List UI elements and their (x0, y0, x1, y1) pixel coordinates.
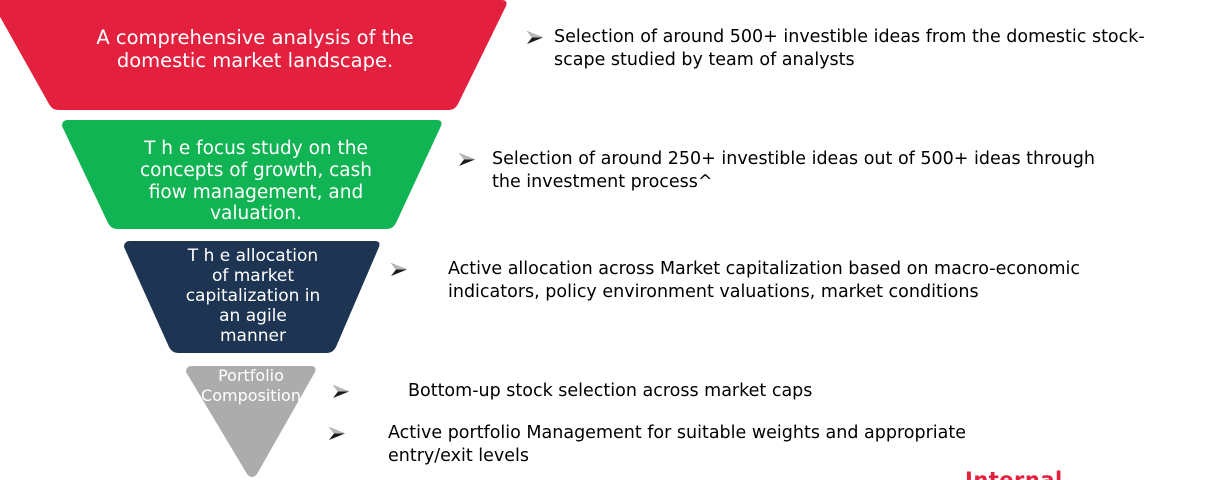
funnel-stage-shape-allocation[interactable] (124, 241, 380, 353)
funnel-stage-shape-focus-study[interactable] (62, 120, 442, 229)
funnel-svg (0, 0, 520, 480)
footer-classification-text: Internal (965, 468, 1063, 480)
bullet-text: Selection of around 250+ investible idea… (492, 148, 1210, 194)
arrowhead-icon (524, 27, 546, 49)
funnel-stage-shape-portfolio-composition[interactable] (186, 366, 316, 477)
arrowhead-icon (326, 423, 348, 445)
bullet-text: Selection of around 500+ investible idea… (554, 26, 1210, 72)
bullet-item-selection-250: Selection of around 250+ investible idea… (456, 148, 1210, 194)
funnel-shapes-group: A comprehensive analysis of the domestic… (0, 0, 520, 480)
footer-classification-clipped: Internal (965, 468, 1210, 480)
arrowhead-icon (388, 259, 410, 281)
funnel-stage-shape-market-analysis[interactable] (0, 0, 507, 110)
arrowhead-icon (330, 381, 352, 403)
arrowhead-icon (456, 149, 478, 171)
bullet-item-bottom-up-selection: Bottom-up stock selection across market … (330, 380, 1130, 403)
bullet-text: Active allocation across Market capitali… (448, 258, 1188, 304)
bullet-text: Active portfolio Management for suitable… (388, 422, 1088, 468)
bullet-text: Bottom-up stock selection across market … (408, 380, 1108, 403)
bullet-item-active-allocation: Active allocation across Market capitali… (388, 258, 1188, 304)
bullet-item-active-management: Active portfolio Management for suitable… (326, 422, 1126, 468)
funnel-diagram-canvas: A comprehensive analysis of the domestic… (0, 0, 1210, 480)
bullet-item-selection-500: Selection of around 500+ investible idea… (524, 26, 1210, 72)
